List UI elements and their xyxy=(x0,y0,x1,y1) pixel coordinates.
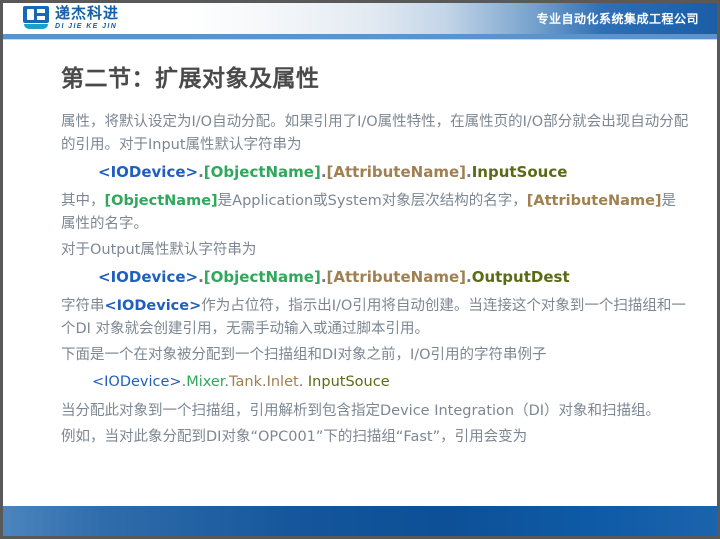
code-line-example: <IODevice>.Mixer.Tank.Inlet. InputSouce xyxy=(61,371,689,394)
paragraph-2-part-a: 其中， xyxy=(61,193,105,209)
slide-footer xyxy=(3,504,717,536)
code-line-output-default: <IODevice>.[ObjectName].[AttributeName].… xyxy=(61,266,689,289)
page-title: 第二节：扩展对象及属性 xyxy=(61,59,320,93)
code-token-suffix: InputSouce xyxy=(308,374,390,390)
code-token-suffix: OutputDest xyxy=(472,268,570,286)
code-token-objectname: [ObjectName] xyxy=(204,163,321,181)
code-token-objectname: [ObjectName] xyxy=(204,268,321,286)
paragraph-4: 字符串<IODevice>作为占位符，指示出I/O引用将自动创建。当连接这个对象… xyxy=(61,295,689,341)
inline-objectname: [ObjectName] xyxy=(105,193,218,209)
slide-content: 属性，将默认设定为I/O自动分配。如果引用了I/O属性特性，在属性页的I/O部分… xyxy=(61,111,689,452)
code-token-attributename: [AttributeName] xyxy=(327,268,466,286)
code-token-iodevice: <IODevice> xyxy=(98,163,198,181)
code-token-iodevice: <IODevice> xyxy=(92,374,182,390)
paragraph-7: 例如，当对此象分配到DI对象“OPC001”下的扫描组“Fast”，引用会变为 xyxy=(61,426,689,449)
inline-attributename: [AttributeName] xyxy=(527,193,662,209)
slide-header: 递杰科进 DI JIE KE JIN 专业自动化系统集成工程公司 xyxy=(3,3,717,34)
paragraph-4-part-a: 字符串 xyxy=(61,298,105,314)
logo-shape-cut-a xyxy=(27,9,34,20)
slide: 递杰科进 DI JIE KE JIN 专业自动化系统集成工程公司 第二节：扩展对… xyxy=(0,0,720,539)
code-token-tank: Tank xyxy=(229,374,262,390)
header-divider-light xyxy=(3,39,717,40)
code-token-attributename: [AttributeName] xyxy=(327,163,466,181)
logo-name-cn: 递杰科进 xyxy=(55,6,119,21)
code-token-inlet: Inlet xyxy=(267,374,299,390)
inline-iodevice: <IODevice> xyxy=(105,298,202,314)
paragraph-5: 下面是一个在对象被分配到一个扫描组和DI对象之前，I/O引用的字符串例子 xyxy=(61,344,689,367)
header-slogan: 专业自动化系统集成工程公司 xyxy=(536,10,699,27)
logo-name-en: DI JIE KE JIN xyxy=(55,23,119,30)
code-token-dot: . xyxy=(299,374,308,390)
code-line-input-default: <IODevice>.[ObjectName].[AttributeName].… xyxy=(61,161,689,184)
logo-shape-wave xyxy=(24,24,48,29)
paragraph-2: 其中，[ObjectName]是Application或System对象层次结构… xyxy=(61,190,689,236)
code-token-suffix: InputSouce xyxy=(472,163,568,181)
paragraph-3: 对于Output属性默认字符串为 xyxy=(61,239,689,262)
logo-shape-cut-b xyxy=(37,9,45,13)
paragraph-6: 当分配此对象到一个扫描组，引用解析到包含指定Device Integration… xyxy=(61,400,689,423)
paragraph-2-part-b: 是Application或System对象层次结构的名字， xyxy=(218,193,527,209)
company-logo-text: 递杰科进 DI JIE KE JIN xyxy=(55,6,119,30)
code-token-mixer: Mixer xyxy=(186,374,224,390)
code-token-iodevice: <IODevice> xyxy=(98,268,198,286)
company-logo-icon xyxy=(23,6,49,30)
logo-shape-cut-c xyxy=(37,16,45,20)
paragraph-1: 属性，将默认设定为I/O自动分配。如果引用了I/O属性特性，在属性页的I/O部分… xyxy=(61,111,689,157)
company-logo: 递杰科进 DI JIE KE JIN xyxy=(23,6,119,30)
